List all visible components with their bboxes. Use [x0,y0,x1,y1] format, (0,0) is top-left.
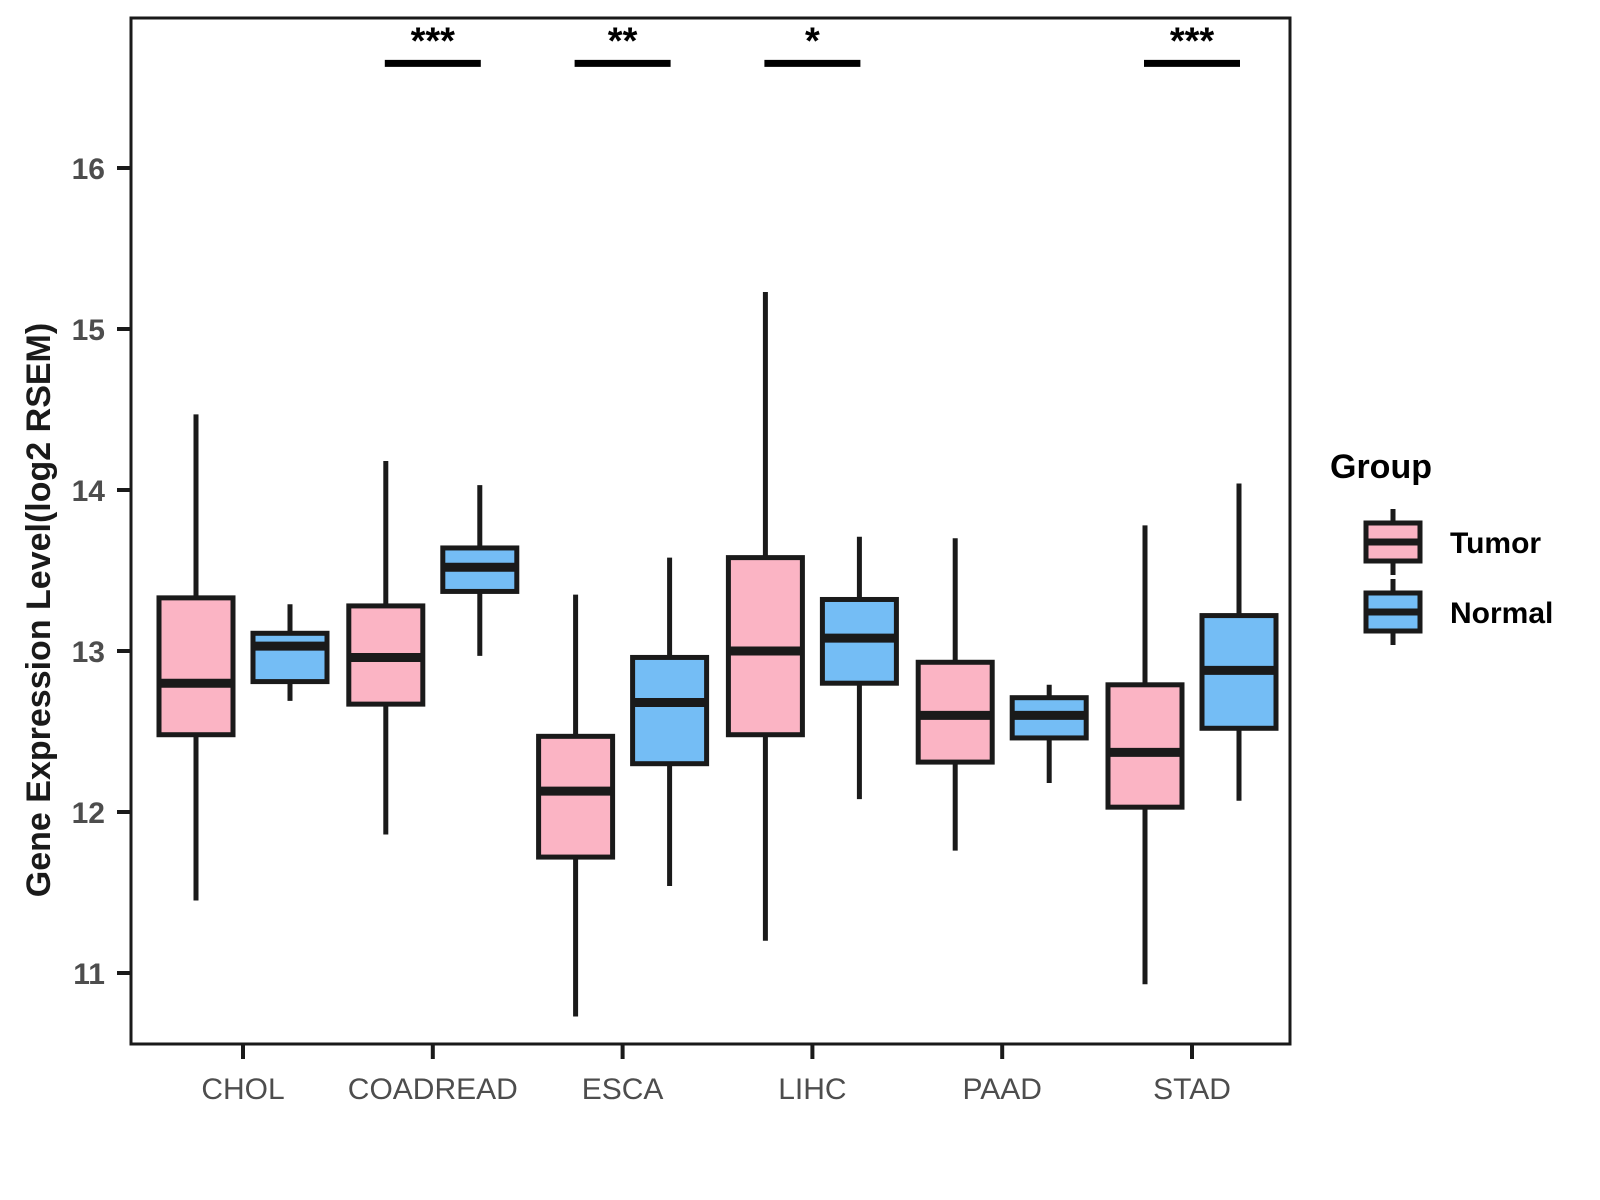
box-rect [253,633,327,681]
box-rect [539,736,613,857]
y-tick-label: 14 [72,475,106,508]
y-tick-label: 12 [72,797,105,830]
y-tick-label: 11 [73,958,105,991]
significance-label: ** [608,20,638,62]
chart-root: Gene Expression Level(log2 RSEM) 1112131… [0,0,1600,1200]
boxplot-figure: Gene Expression Level(log2 RSEM) 1112131… [0,0,1600,1200]
box-rect [728,558,802,735]
x-tick-label-chol: CHOL [201,1073,284,1106]
y-tick-label: 16 [72,153,105,186]
box-rect [159,598,233,735]
x-tick-label-lihc: LIHC [778,1073,846,1106]
legend-title: Group [1330,448,1432,486]
x-tick-label-esca: ESCA [582,1073,664,1106]
significance-label: *** [411,20,456,62]
box-rect [633,657,707,763]
significance-label: * [805,20,820,62]
legend-label-tumor: Tumor [1450,527,1541,560]
y-tick-label: 13 [72,636,105,669]
x-tick-label-stad: STAD [1153,1073,1231,1106]
x-tick-label-coadread: COADREAD [348,1073,518,1106]
x-tick-label-paad: PAAD [962,1073,1041,1106]
box-rect [1108,685,1182,807]
y-axis-title-text: Gene Expression Level(log2 RSEM) [20,323,58,897]
legend-label-normal: Normal [1450,597,1553,630]
y-tick-label: 15 [72,314,105,347]
significance-label: *** [1170,20,1215,62]
y-axis-title: Gene Expression Level(log2 RSEM) [20,323,58,897]
